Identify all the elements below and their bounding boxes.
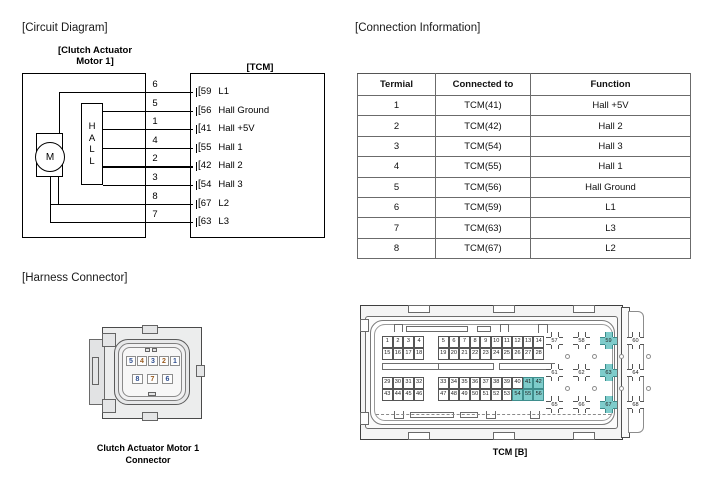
tcm-pin-label-59: 59 <box>600 332 617 349</box>
connector-latch-slot <box>92 357 99 385</box>
tcm-pin-63: 63 <box>600 364 617 381</box>
tcm-tab-left-top <box>360 319 369 332</box>
tcm-pin-58: 58 <box>573 332 590 349</box>
terminal-number: 42 <box>201 160 216 171</box>
tcm-pin-10: 10 <box>491 336 502 348</box>
tcm-vent-hole <box>565 386 570 391</box>
terminal-number: 41 <box>201 123 216 134</box>
cell-connected-to: TCM(56) <box>436 177 531 197</box>
circuit-pin-number-4: 4 <box>148 135 162 146</box>
tcm-ledge-nub-d <box>394 411 404 419</box>
tcm-pin-65: 65 <box>546 396 563 413</box>
motor-top-lead <box>59 92 60 133</box>
tcm-tab-top-2 <box>493 305 515 313</box>
wire-pin-6 <box>59 92 193 93</box>
circuit-pin-number-2: 2 <box>148 153 162 164</box>
tcm-pin-label-66: 66 <box>573 396 590 413</box>
tcm-pin-51: 51 <box>480 389 491 401</box>
harness-pin-8: 8 <box>132 374 143 384</box>
terminal-number: 67 <box>201 198 216 209</box>
connector-key-bottom <box>142 412 158 421</box>
cavity-nub-top-a <box>145 348 150 352</box>
terminal-number: 55 <box>201 142 216 153</box>
tcm-pin-57: 57 <box>546 332 563 349</box>
tcm-pin-13: 13 <box>523 336 534 348</box>
table-row: 7TCM(63)L3 <box>358 218 691 238</box>
tcm-pin-27: 27 <box>523 348 534 360</box>
tcm-pin-18: 18 <box>414 348 425 360</box>
tcm-terminal-67: [67 L2 <box>198 198 229 209</box>
tcm-pin-40: 40 <box>512 377 523 389</box>
cell-terminal: 6 <box>358 197 436 217</box>
tcm-vent-hole <box>646 354 651 359</box>
terminal-number: 56 <box>201 105 216 116</box>
terminal-function: Hall +5V <box>216 123 255 134</box>
circuit-pin-number-8: 8 <box>148 191 162 202</box>
tcm-pin-23: 23 <box>480 348 491 360</box>
wire-pin-3 <box>103 185 193 186</box>
tcm-pin-31: 31 <box>403 377 414 389</box>
tcm-terminal-55: [55 Hall 1 <box>198 142 243 153</box>
circuit-pin-number-1: 1 <box>148 116 162 127</box>
cell-connected-to: TCM(41) <box>436 96 531 116</box>
tcm-terminal-56: [56 Hall Ground <box>198 105 269 116</box>
tcm-pin-8: 8 <box>470 336 481 348</box>
harness-pin-4: 4 <box>137 356 147 366</box>
table-row: 4TCM(55)Hall 1 <box>358 157 691 177</box>
cell-function: Hall 1 <box>531 157 691 177</box>
tcm-pin-26: 26 <box>512 348 523 360</box>
tcm-pin-4: 4 <box>414 336 425 348</box>
cell-terminal: 7 <box>358 218 436 238</box>
tcm-vent-hole <box>619 386 624 391</box>
cell-function: Hall +5V <box>531 96 691 116</box>
cell-function: Hall 2 <box>531 116 691 136</box>
tcm-pin-16: 16 <box>393 348 404 360</box>
clutch-actuator-motor-block-label: [Clutch Actuator Motor 1] <box>35 45 155 67</box>
tcm-pin-29: 29 <box>382 377 393 389</box>
tcm-pin-24: 24 <box>491 348 502 360</box>
tcm-terminal-59: [59 L1 <box>198 86 229 97</box>
circuit-pin-number-6: 6 <box>148 79 162 90</box>
hall-char-1: A <box>89 133 95 145</box>
connector-tab-top <box>102 333 116 347</box>
tcm-terminal-63: [63 L3 <box>198 216 229 227</box>
harness-pin-5: 5 <box>126 356 136 366</box>
tcm-stub-41 <box>196 125 197 134</box>
tcm-stub-55 <box>196 144 197 153</box>
tcm-pin-60: 60 <box>627 332 644 349</box>
terminal-function: Hall Ground <box>216 105 269 116</box>
tcm-block-label: [TCM] <box>195 62 325 73</box>
wire-pin-5 <box>103 111 193 112</box>
tcm-pin-41: 41 <box>523 377 534 389</box>
harness-connector-section-title: [Harness Connector] <box>22 272 127 284</box>
tcm-pin-label-57: 57 <box>546 332 563 349</box>
cell-connected-to: TCM(63) <box>436 218 531 238</box>
terminal-function: L3 <box>216 216 229 227</box>
cell-terminal: 8 <box>358 238 436 258</box>
tcm-pin-33: 33 <box>438 377 449 389</box>
tcm-pin-34: 34 <box>449 377 460 389</box>
tcm-pin-49: 49 <box>459 389 470 401</box>
tcm-stub-42 <box>196 162 197 171</box>
connection-information-table: Termial Connected to Function 1TCM(41)Ha… <box>357 73 691 259</box>
cell-function: L1 <box>531 197 691 217</box>
connector-key-right <box>196 365 205 377</box>
terminal-number: 54 <box>201 179 216 190</box>
tcm-pin-21: 21 <box>459 348 470 360</box>
motor-bottom-lead-8 <box>58 177 59 204</box>
tcm-pin-label-61: 61 <box>546 364 563 381</box>
tcm-pin-label-64: 64 <box>627 364 644 381</box>
col-header-function: Function <box>531 74 691 96</box>
tcm-connector-caption: TCM [B] <box>430 446 590 458</box>
tcm-pin-label-65: 65 <box>546 396 563 413</box>
table-row: 5TCM(56)Hall Ground <box>358 177 691 197</box>
hall-char-2: L <box>89 144 94 156</box>
tcm-pin-35: 35 <box>459 377 470 389</box>
col-header-terminal: Termial <box>358 74 436 96</box>
tcm-tab-bottom-2 <box>493 432 515 440</box>
tcm-pin-37: 37 <box>480 377 491 389</box>
motor-bottom-join-8 <box>50 204 59 205</box>
tcm-pin-47: 47 <box>438 389 449 401</box>
table-row: 2TCM(42)Hall 2 <box>358 116 691 136</box>
tcm-tab-bottom-1 <box>408 432 430 440</box>
tcm-pin-label-60: 60 <box>627 332 644 349</box>
col-header-connected-to: Connected to <box>436 74 531 96</box>
tcm-pin-39: 39 <box>502 377 513 389</box>
hall-sensor-box: H A L L <box>81 103 103 185</box>
tcm-stub-59 <box>196 88 197 97</box>
tcm-slot-bar-2 <box>438 363 494 370</box>
tcm-b-connector-illustration: 1234567891011121314151617181920212223242… <box>360 305 660 440</box>
circuit-pin-number-5: 5 <box>148 98 162 109</box>
tcm-ledge-bar-c <box>410 412 454 418</box>
tcm-stub-54 <box>196 181 197 190</box>
harness-pin-3: 3 <box>148 356 158 366</box>
cell-terminal: 1 <box>358 96 436 116</box>
motor-bottom-lead-7 <box>50 177 51 222</box>
harness-pin-1: 1 <box>170 356 180 366</box>
cell-connected-to: TCM(59) <box>436 197 531 217</box>
cell-function: Hall Ground <box>531 177 691 197</box>
tcm-pin-15: 15 <box>382 348 393 360</box>
connector-tab-bottom <box>102 399 116 413</box>
tcm-pin-32: 32 <box>414 377 425 389</box>
tcm-pin-50: 50 <box>470 389 481 401</box>
tcm-pin-36: 36 <box>470 377 481 389</box>
circuit-pin-number-7: 7 <box>148 209 162 220</box>
tcm-vent-hole <box>592 354 597 359</box>
tcm-pin-44: 44 <box>393 389 404 401</box>
tcm-vent-hole <box>646 386 651 391</box>
clutch-actuator-motor-1-connector-illustration: 54321 876 <box>88 325 208 425</box>
tcm-stub-56 <box>196 107 197 116</box>
tcm-ledge-nub-f <box>530 411 540 419</box>
tcm-tab-bottom-3 <box>573 432 595 440</box>
harness-pin-2: 2 <box>159 356 169 366</box>
table-row: 8TCM(67)L2 <box>358 238 691 258</box>
tcm-pin-12: 12 <box>512 336 523 348</box>
tcm-pin-6: 6 <box>449 336 460 348</box>
tcm-vent-hole <box>565 354 570 359</box>
tcm-pin-1: 1 <box>382 336 393 348</box>
terminal-number: 63 <box>201 216 216 227</box>
connector-key-top <box>142 325 158 334</box>
tcm-pin-label-62: 62 <box>573 364 590 381</box>
tcm-pin-17: 17 <box>403 348 414 360</box>
hall-char-3: L <box>89 156 94 168</box>
tcm-pin-59: 59 <box>600 332 617 349</box>
tcm-pin-38: 38 <box>491 377 502 389</box>
cavity-nub-top-b <box>152 348 157 352</box>
wire-pin-4 <box>103 148 193 149</box>
tcm-ledge-nub-b <box>500 324 509 332</box>
cavity-nub-bottom <box>148 392 156 396</box>
tcm-dashed-line <box>376 414 611 415</box>
tcm-pin-label-68: 68 <box>627 396 644 413</box>
table-header-row: Termial Connected to Function <box>358 74 691 96</box>
harness-pin-6: 6 <box>162 374 173 384</box>
tcm-pin-54: 54 <box>512 389 523 401</box>
tcm-pin-3: 3 <box>403 336 414 348</box>
tcm-tab-left-bottom <box>360 412 369 425</box>
cell-terminal: 5 <box>358 177 436 197</box>
harness-pin-7: 7 <box>147 374 158 384</box>
cell-connected-to: TCM(42) <box>436 116 531 136</box>
tcm-stub-63 <box>196 218 197 227</box>
tcm-tab-top-3 <box>573 305 595 313</box>
tcm-tab-top-1 <box>408 305 430 313</box>
tcm-pin-label-63: 63 <box>600 364 617 381</box>
wire-pin-7 <box>50 222 193 223</box>
table-row: 3TCM(54)Hall 3 <box>358 136 691 156</box>
tcm-ledge-bar-b <box>477 326 491 332</box>
tcm-pin-55: 55 <box>523 389 534 401</box>
cell-function: Hall 3 <box>531 136 691 156</box>
terminal-number: 59 <box>201 86 216 97</box>
tcm-pin-46: 46 <box>414 389 425 401</box>
wire-pin-1 <box>103 129 193 130</box>
tcm-pin-22: 22 <box>470 348 481 360</box>
terminal-function: Hall 2 <box>216 160 243 171</box>
cell-connected-to: TCM(67) <box>436 238 531 258</box>
harness-connector-caption: Clutch Actuator Motor 1 Connector <box>48 442 248 466</box>
tcm-terminal-54: [54 Hall 3 <box>198 179 243 190</box>
terminal-function: L1 <box>216 86 229 97</box>
tcm-vent-hole <box>619 354 624 359</box>
tcm-slot-bar-1 <box>382 363 440 370</box>
table-row: 6TCM(59)L1 <box>358 197 691 217</box>
tcm-pin-28: 28 <box>533 348 544 360</box>
tcm-terminal-41: [41 Hall +5V <box>198 123 255 134</box>
tcm-vent-hole <box>592 386 597 391</box>
wire-pin-2 <box>103 166 193 167</box>
circuit-diagram-section-title: [Circuit Diagram] <box>22 22 108 34</box>
cell-function: L2 <box>531 238 691 258</box>
tcm-pin-68: 68 <box>627 396 644 413</box>
tcm-pin-9: 9 <box>480 336 491 348</box>
tcm-pin-66: 66 <box>573 396 590 413</box>
cell-terminal: 2 <box>358 116 436 136</box>
tcm-terminal-42: [42 Hall 2 <box>198 160 243 171</box>
tcm-pin-11: 11 <box>502 336 513 348</box>
tcm-pin-5: 5 <box>438 336 449 348</box>
tcm-pin-30: 30 <box>393 377 404 389</box>
cell-connected-to: TCM(55) <box>436 157 531 177</box>
tcm-pin-label-67: 67 <box>600 396 617 413</box>
tcm-pin-42: 42 <box>533 377 544 389</box>
terminal-function: Hall 1 <box>216 142 243 153</box>
connector-cavity <box>122 347 182 397</box>
tcm-pin-20: 20 <box>449 348 460 360</box>
tcm-pin-61: 61 <box>546 364 563 381</box>
cell-terminal: 3 <box>358 136 436 156</box>
tcm-ledge-bar-d <box>460 412 478 418</box>
terminal-function: L2 <box>216 198 229 209</box>
tcm-ledge-nub-a <box>394 324 403 332</box>
tcm-pin-19: 19 <box>438 348 449 360</box>
cell-terminal: 4 <box>358 157 436 177</box>
circuit-pin-number-3: 3 <box>148 172 162 183</box>
tcm-pin-45: 45 <box>403 389 414 401</box>
tcm-pin-48: 48 <box>449 389 460 401</box>
table-row: 1TCM(41)Hall +5V <box>358 96 691 116</box>
tcm-stub-67 <box>196 200 197 209</box>
connection-information-section-title: [Connection Information] <box>355 22 480 34</box>
tcm-pin-67: 67 <box>600 396 617 413</box>
tcm-pin-2: 2 <box>393 336 404 348</box>
tcm-pin-52: 52 <box>491 389 502 401</box>
cell-function: L3 <box>531 218 691 238</box>
hall-char-0: H <box>89 121 96 133</box>
tcm-pin-56: 56 <box>533 389 544 401</box>
tcm-pin-7: 7 <box>459 336 470 348</box>
tcm-pin-25: 25 <box>502 348 513 360</box>
tcm-ledge-bar-a <box>406 326 468 332</box>
tcm-pin-14: 14 <box>533 336 544 348</box>
tcm-pin-62: 62 <box>573 364 590 381</box>
wire-pin-8 <box>50 204 193 205</box>
terminal-function: Hall 3 <box>216 179 243 190</box>
cell-connected-to: TCM(54) <box>436 136 531 156</box>
tcm-enclosure <box>190 73 325 238</box>
tcm-pin-64: 64 <box>627 364 644 381</box>
tcm-pin-label-58: 58 <box>573 332 590 349</box>
tcm-pin-43: 43 <box>382 389 393 401</box>
motor-symbol: M <box>35 142 65 172</box>
tcm-pin-53: 53 <box>502 389 513 401</box>
tcm-ledge-nub-e <box>486 411 496 419</box>
